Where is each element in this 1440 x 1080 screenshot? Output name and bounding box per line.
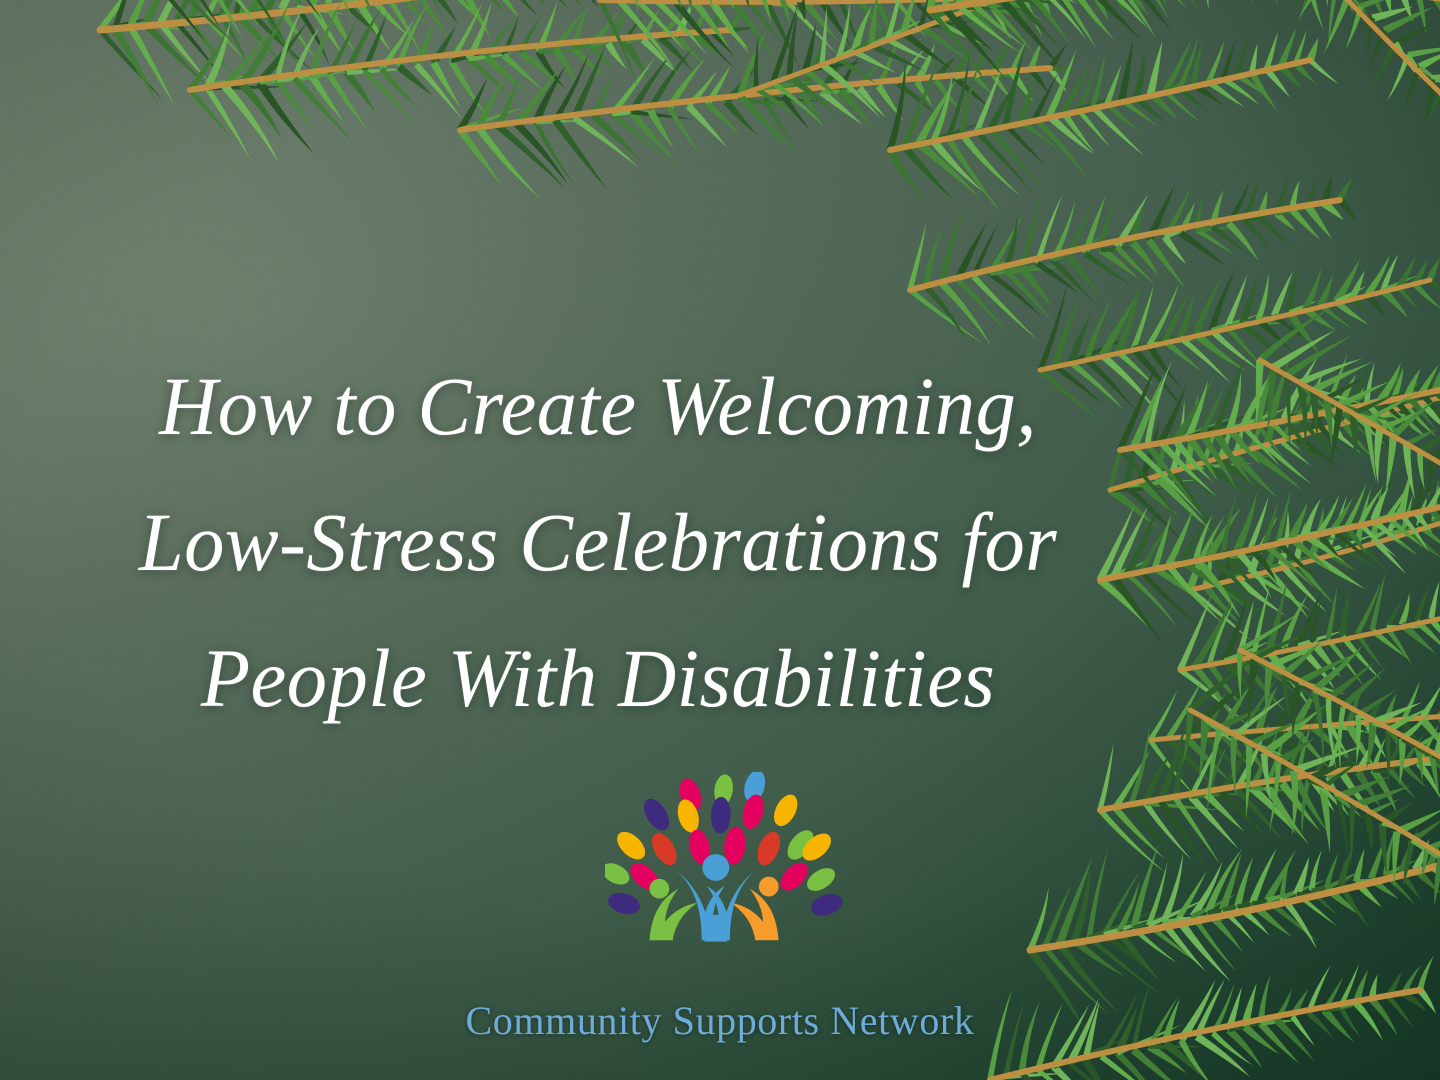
logo-leaf xyxy=(775,858,813,896)
logo-figure-right-orange xyxy=(731,889,779,941)
logo-leaf-cluster xyxy=(605,772,845,919)
logo-leaf xyxy=(639,794,674,834)
logo-leaf xyxy=(612,827,650,865)
logo-leaf xyxy=(753,828,785,868)
logo-figure-center-blue-trunk xyxy=(705,915,728,942)
logo-leaf xyxy=(808,890,845,919)
logo-leaf xyxy=(647,829,682,869)
logo-leaf xyxy=(710,797,731,834)
community-supports-network-logo xyxy=(605,772,845,987)
logo-figure-left-head xyxy=(649,879,669,899)
title-line-3: People With Disabilities xyxy=(78,610,1118,746)
slide-title: How to Create Welcoming, Low-Stress Cele… xyxy=(62,338,1134,746)
logo-leaf xyxy=(769,791,802,830)
logo-figure-center-head xyxy=(702,854,729,881)
organization-name: Community Supports Network xyxy=(0,997,1440,1044)
logo-leaf xyxy=(739,792,767,831)
logo-leaf xyxy=(606,890,643,918)
title-line-2: Low-Stress Celebrations for xyxy=(78,474,1118,610)
logo-figure-right-head xyxy=(759,877,779,897)
logo-leaf xyxy=(803,863,839,895)
logo-leaf xyxy=(605,859,633,889)
logo-human-figures xyxy=(649,854,778,942)
slide-canvas: How to Create Welcoming, Low-Stress Cele… xyxy=(0,0,1440,1080)
title-line-1: How to Create Welcoming, xyxy=(78,338,1118,474)
